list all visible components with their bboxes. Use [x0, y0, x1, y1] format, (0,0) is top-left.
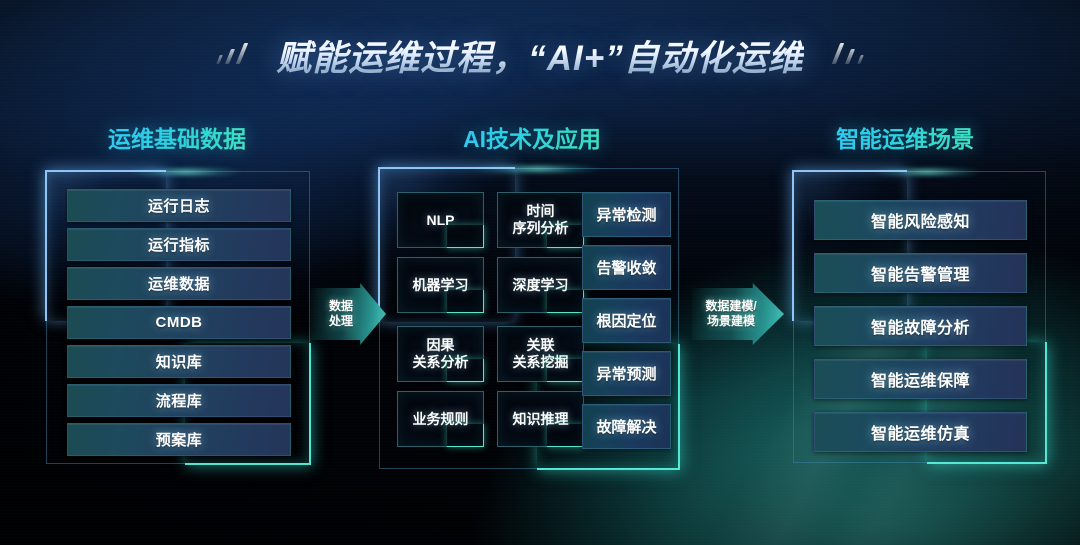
tech-box-label: 知识推理: [513, 411, 569, 428]
application-box-alarm-convergence[interactable]: 告警收敛: [582, 245, 671, 290]
application-box-label: 异常预测: [596, 363, 656, 384]
list-item-label: 知识库: [156, 351, 203, 372]
tech-box-correlation-mining[interactable]: 关联关系挖掘: [497, 326, 584, 382]
application-box-label: 根因定位: [596, 310, 656, 331]
speed-lines-right-icon: [818, 40, 864, 70]
application-box-root-cause[interactable]: 根因定位: [582, 298, 671, 343]
scenario-item-label: 智能告警管理: [871, 261, 970, 285]
list-item-process-base[interactable]: 流程库: [67, 384, 291, 417]
tech-box-business-rules[interactable]: 业务规则: [397, 391, 484, 447]
arrow-label-group: 数据建模/ 场景建模: [692, 283, 784, 345]
scenario-item-alarm-management[interactable]: 智能告警管理: [814, 253, 1027, 293]
arrow-label-group: 数据 处理: [310, 283, 386, 345]
arrow-label-line2: 场景建模: [707, 314, 755, 329]
list-item-knowledge-base[interactable]: 知识库: [67, 345, 291, 378]
arrow-data-processing: 数据 处理: [310, 283, 386, 345]
list-item-label: 预案库: [156, 429, 203, 450]
list-item-label: 运行日志: [148, 195, 210, 216]
application-box-label: 告警收敛: [596, 257, 656, 278]
arrow-modeling: 数据建模/ 场景建模: [692, 283, 784, 345]
list-item-label: 流程库: [156, 390, 203, 411]
list-item-label: 运行指标: [148, 234, 210, 255]
panel-ai-tech: NLP 时间序列分析 机器学习 深度学习 因果关系分析 关联关系挖掘 业务规则 …: [379, 168, 679, 469]
tech-box-label: 深度学习: [513, 277, 569, 294]
list-item-label: 运维数据: [148, 273, 210, 294]
slide-title-bar: 赋能运维过程，“AI+”自动化运维: [0, 26, 1080, 84]
application-box-label: 异常检测: [596, 204, 656, 225]
arrow-label-line1: 数据: [329, 299, 353, 314]
tech-box-machine-learning[interactable]: 机器学习: [397, 257, 484, 313]
tech-box-causal-analysis[interactable]: 因果关系分析: [397, 326, 484, 382]
scenario-item-label: 智能风险感知: [871, 208, 970, 232]
scenario-item-label: 智能运维保障: [871, 367, 970, 391]
scenario-item-ops-simulation[interactable]: 智能运维仿真: [814, 412, 1027, 452]
application-box-fault-resolution[interactable]: 故障解决: [582, 404, 671, 449]
scenario-item-risk-perception[interactable]: 智能风险感知: [814, 200, 1027, 240]
list-item-plan-base[interactable]: 预案库: [67, 423, 291, 456]
application-box-anomaly-detection[interactable]: 异常检测: [582, 192, 671, 237]
tech-box-label: 关联关系挖掘: [513, 337, 569, 370]
list-item-ops-data[interactable]: 运维数据: [67, 267, 291, 300]
tech-box-nlp[interactable]: NLP: [397, 192, 484, 248]
scenario-item-label: 智能故障分析: [871, 314, 970, 338]
tech-box-knowledge-reasoning[interactable]: 知识推理: [497, 391, 584, 447]
column-header-scenarios: 智能运维场景: [836, 120, 974, 154]
scenario-item-ops-assurance[interactable]: 智能运维保障: [814, 359, 1027, 399]
tech-box-label: 因果关系分析: [413, 337, 469, 370]
list-item-run-log[interactable]: 运行日志: [67, 189, 291, 222]
page-title: 赋能运维过程，“AI+”自动化运维: [276, 30, 803, 81]
panel-base-data: 运行日志 运行指标 运维数据 CMDB 知识库 流程库 预案库: [46, 171, 310, 464]
arrow-label-line2: 处理: [329, 314, 353, 329]
list-item-run-metrics[interactable]: 运行指标: [67, 228, 291, 261]
slide-canvas: 赋能运维过程，“AI+”自动化运维 运维基础数据 AI技术及应用 智能运维场景 …: [0, 0, 1080, 545]
arrow-label-line1: 数据建模/: [705, 299, 756, 314]
application-box-label: 故障解决: [596, 416, 656, 437]
tech-box-label: NLP: [427, 212, 455, 229]
scenario-item-label: 智能运维仿真: [871, 420, 970, 444]
list-item-cmdb[interactable]: CMDB: [67, 306, 291, 339]
scenario-item-fault-analysis[interactable]: 智能故障分析: [814, 306, 1027, 346]
tech-box-label: 机器学习: [413, 277, 469, 294]
column-header-ai-tech: AI技术及应用: [463, 120, 601, 154]
panel-scenarios: 智能风险感知 智能告警管理 智能故障分析 智能运维保障 智能运维仿真: [793, 171, 1046, 463]
list-item-label: CMDB: [156, 314, 203, 331]
tech-box-label: 业务规则: [413, 411, 469, 428]
application-box-anomaly-prediction[interactable]: 异常预测: [582, 351, 671, 396]
tech-box-time-series[interactable]: 时间序列分析: [497, 192, 584, 248]
column-header-base-data: 运维基础数据: [108, 120, 246, 154]
tech-box-label: 时间序列分析: [513, 203, 569, 236]
speed-lines-left-icon: [216, 40, 262, 70]
tech-box-deep-learning[interactable]: 深度学习: [497, 257, 584, 313]
